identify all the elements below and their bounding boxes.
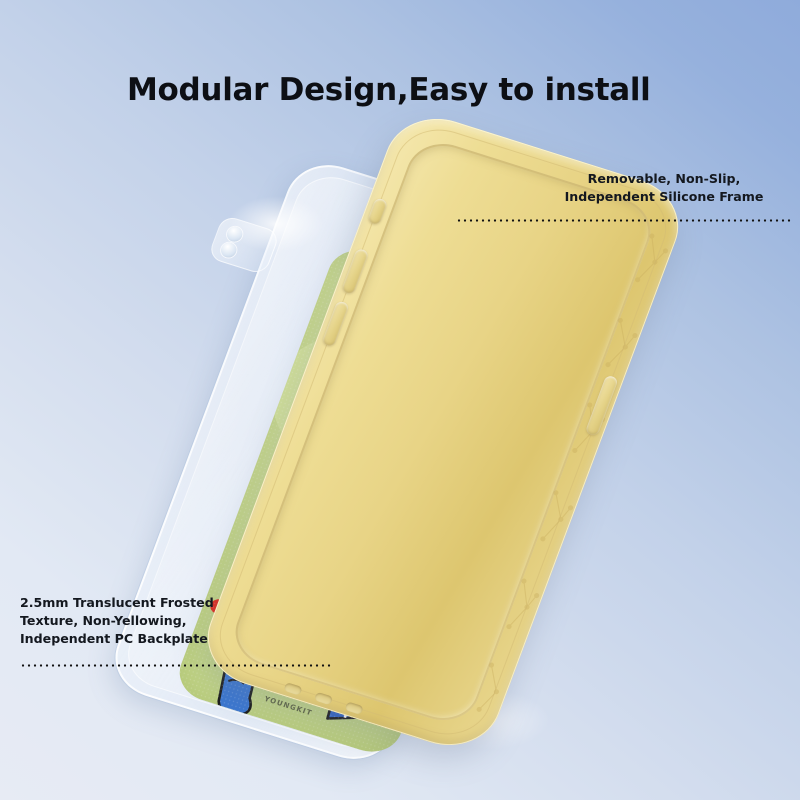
product-illustration: star Hou <box>0 0 800 800</box>
speaker-cutout-1 <box>283 682 302 696</box>
callout-silicone-frame: Removable, Non-Slip, Independent Silicon… <box>535 170 793 206</box>
camera-lens-upper <box>225 225 245 244</box>
callout-right-line2: Independent Silicone Frame <box>535 188 793 206</box>
speaker-cutout-3 <box>344 701 363 715</box>
leader-line-left <box>20 664 332 667</box>
speaker-cutout-2 <box>314 692 333 706</box>
callout-right-line1: Removable, Non-Slip, <box>535 170 793 188</box>
leader-line-right <box>456 219 792 222</box>
camera-lens-lower <box>219 241 239 260</box>
callout-left-line2: Texture, Non-Yellowing, <box>20 612 320 630</box>
callout-left-line3: Independent PC Backplate <box>20 630 320 648</box>
page-title: Modular Design,Easy to install <box>127 72 651 108</box>
callout-pc-backplate: 2.5mm Translucent Frosted Texture, Non-Y… <box>20 594 320 648</box>
mute-switch-cutout <box>367 197 389 225</box>
callout-left-line1: 2.5mm Translucent Frosted <box>20 594 320 612</box>
product-marketing-image: star Hou <box>0 0 800 800</box>
